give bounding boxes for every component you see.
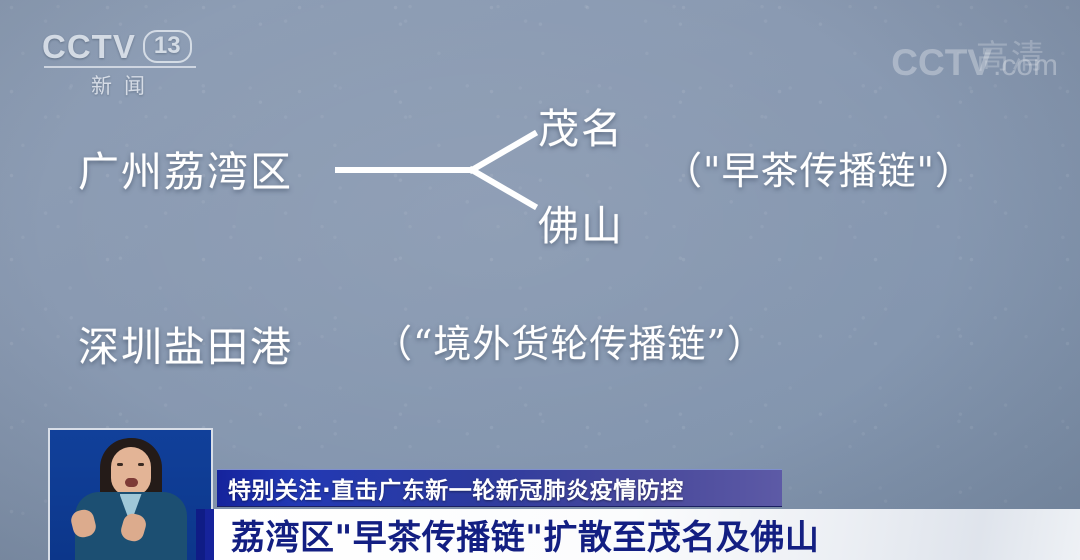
chain-label-morning-tea: （"早茶传播链"） [664,140,974,195]
channel-logo-underline [44,66,196,68]
lower-third-headline-text: 荔湾区"早茶传播链"扩散至茂名及佛山 [214,510,819,559]
headline-left-accent-bar [196,509,205,560]
chain-label-overseas-cargo: （“境外货轮传播链”） [374,313,766,368]
channel-subtitle: 新闻 [42,70,194,100]
watermark-brand: CCTV [891,44,992,81]
lower-third-kicker-bar: 特别关注·直击广东新一轮新冠肺炎疫情防控 [217,469,782,507]
sign-language-interpreter-inset [48,428,213,560]
watermark-suffix: .com [993,51,1058,81]
channel-number-badge: 13 [143,30,192,63]
chain-source-liwan: 广州荔湾区 [78,138,293,198]
cctv-wordmark: CCTV [42,30,136,63]
broadcast-frame: CCTV 13 新闻 高清 CCTV .com 广州荔湾区 茂名 佛山 （"早茶… [0,0,1080,560]
channel-logo: CCTV 13 新闻 [42,30,196,100]
lower-third-headline-strip: 荔湾区"早茶传播链"扩散至茂名及佛山 [205,509,1080,560]
connector-branch-upper [472,134,534,170]
interpreter-eye-left [117,463,123,466]
chain-target-foshan: 佛山 [538,192,624,252]
channel-logo-row: CCTV 13 [42,30,196,63]
chain-target-maoming: 茂名 [538,95,624,155]
interpreter-eye-right [138,463,144,466]
cctv-com-watermark: CCTV .com [891,44,1058,81]
chain-source-yantian-port: 深圳盐田港 [78,313,293,373]
connector-branch-lower [472,170,534,206]
lower-third-kicker-text: 特别关注·直击广东新一轮新冠肺炎疫情防控 [217,471,684,505]
interpreter-face [111,447,151,496]
interpreter-mouth [125,478,138,487]
